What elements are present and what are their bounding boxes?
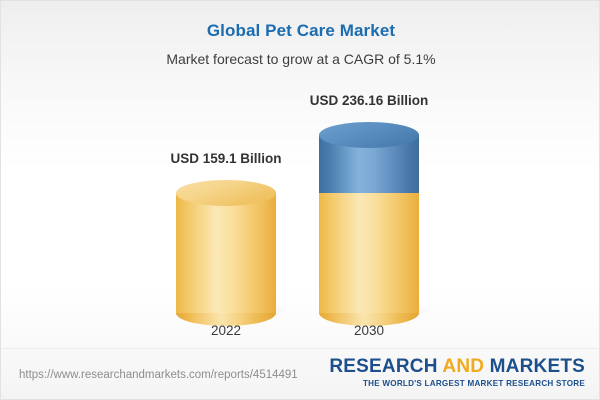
bar-top-cap-2022: [176, 180, 276, 206]
logo-word-research: RESEARCH: [329, 356, 437, 377]
bar-segment-base-2030: [319, 193, 419, 313]
source-url[interactable]: https://www.researchandmarkets.com/repor…: [19, 369, 298, 381]
chart-plot-area: USD 159.1 Billion 2022 USD 236.16 Billio…: [1, 81, 600, 346]
logo-word-and: AND: [442, 356, 484, 377]
footer-divider: [2, 348, 598, 349]
page-title: Global Pet Care Market: [1, 21, 600, 41]
x-axis-tick-2030: 2030: [279, 323, 459, 338]
bar-top-cap-2030: [319, 122, 419, 148]
logo-tagline: THE WORLD'S LARGEST MARKET RESEARCH STOR…: [329, 379, 585, 388]
infographic-card: Global Pet Care Market Market forecast t…: [0, 0, 600, 400]
bar-segment-base-2022: [176, 193, 276, 313]
logo-wordmark: RESEARCH AND MARKETS: [329, 357, 585, 377]
research-and-markets-logo[interactable]: RESEARCH AND MARKETS THE WORLD'S LARGEST…: [329, 357, 585, 388]
logo-word-markets: MARKETS: [490, 356, 585, 377]
bar-cylinder-2030[interactable]: [319, 122, 419, 313]
bar-group-2030: USD 236.16 Billion 2030: [279, 81, 459, 346]
chart-subtitle: Market forecast to grow at a CAGR of 5.1…: [1, 51, 600, 67]
bar-value-label-2030: USD 236.16 Billion: [279, 93, 459, 108]
bar-cylinder-2022[interactable]: [176, 180, 276, 313]
